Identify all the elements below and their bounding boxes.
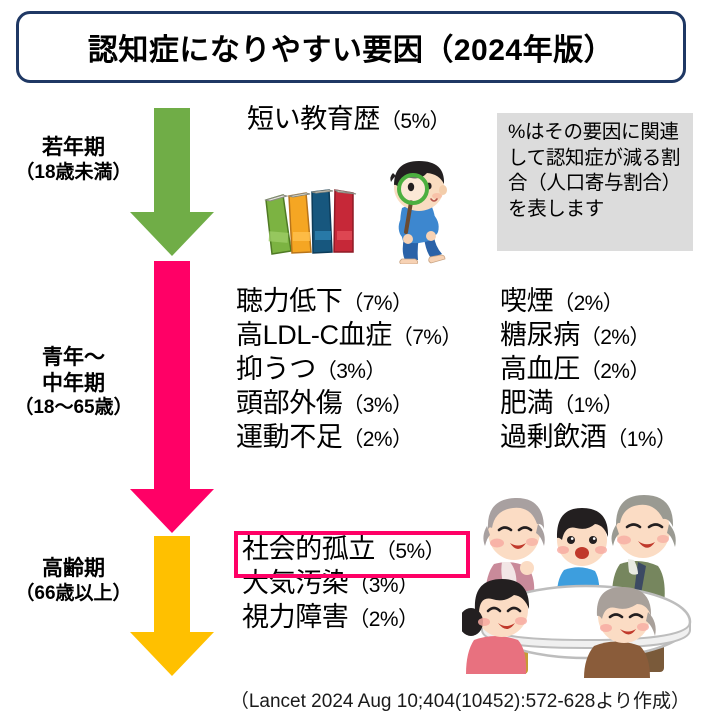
factor-name: 高LDL-C血症: [236, 320, 392, 350]
infographic-page: 認知症になりやすい要因（2024年版） 若年期 （18歳未満） 青年〜 中年期 …: [0, 0, 702, 721]
factor-percent: （5%）: [380, 110, 450, 133]
factor-percent: （2%）: [580, 360, 650, 383]
arrow-stem: [154, 108, 190, 212]
factor-name: 短い教育歴: [247, 104, 380, 134]
factor-item: 過剰飲酒（1%）: [500, 424, 676, 451]
arrow-head: [130, 632, 214, 676]
books-and-boy-illustration: [256, 156, 486, 264]
stage-label-young: 若年期 （18歳未満）: [6, 135, 141, 184]
factor-item: 糖尿病（2%）: [500, 322, 676, 349]
factor-percent: （1%）: [553, 394, 623, 417]
factor-name: 聴力低下: [236, 286, 342, 316]
factor-percent: （3%）: [342, 394, 412, 417]
factor-list-young: 短い教育歴（5%）: [247, 106, 450, 140]
stage-young-range: （18歳未満）: [6, 161, 141, 184]
factor-percent: （3%）: [316, 360, 386, 383]
factor-name: 過剰飲酒: [500, 422, 606, 452]
title-box: 認知症になりやすい要因（2024年版）: [16, 11, 686, 83]
arrow-head: [130, 212, 214, 256]
stage-middle-name-line2: 中年期: [6, 371, 141, 397]
legend-note: %はその要因に関連して認知症が減る割合（人口寄与割合）を表します: [497, 113, 693, 251]
factor-percent: （2%）: [342, 428, 412, 451]
factor-name: 高血圧: [500, 354, 580, 384]
factor-item: 視力障害（2%）: [242, 604, 445, 631]
factor-item: 抑うつ（3%）: [236, 356, 462, 383]
factor-name: 喫煙: [500, 286, 553, 316]
stage-old-range: （66歳以上）: [6, 582, 141, 605]
factor-item: 聴力低下（7%）: [236, 288, 462, 315]
factor-list-middle-left: 聴力低下（7%） 高LDL-C血症（7%） 抑うつ（3%） 頭部外傷（3%） 運…: [236, 288, 462, 458]
stage-label-old: 高齢期 （66歳以上）: [6, 556, 141, 605]
down-arrow-icon-old: [130, 536, 214, 676]
stage-old-name: 高齢期: [6, 556, 141, 582]
stage-label-middle: 青年〜 中年期 （18〜65歳）: [6, 345, 141, 419]
factor-name: 肥満: [500, 388, 553, 418]
factor-name: 頭部外傷: [236, 388, 342, 418]
factor-list-middle-right: 喫煙（2%） 糖尿病（2%） 高血圧（2%） 肥満（1%） 過剰飲酒（1%）: [500, 288, 676, 458]
factor-item: 高血圧（2%）: [500, 356, 676, 383]
factor-item: 喫煙（2%）: [500, 288, 676, 315]
factor-item: 高LDL-C血症（7%）: [236, 322, 462, 349]
factor-name: 抑うつ: [236, 354, 316, 384]
stage-young-name: 若年期: [6, 135, 141, 161]
factor-item: 運動不足（2%）: [236, 424, 462, 451]
arrow-head: [130, 489, 214, 533]
factor-item: 短い教育歴（5%）: [247, 106, 450, 133]
stage-middle-name-line1: 青年〜: [6, 345, 141, 371]
down-arrow-icon-young: [130, 108, 214, 256]
family-illustration: [462, 490, 700, 678]
factor-name: 運動不足: [236, 422, 342, 452]
factor-percent: （7%）: [342, 292, 412, 315]
stage-middle-range: （18〜65歳）: [6, 396, 141, 419]
factor-percent: （7%）: [392, 326, 462, 349]
factor-name: 糖尿病: [500, 320, 580, 350]
citation: （Lancet 2024 Aug 10;404(10452):572-628より…: [0, 686, 690, 713]
arrow-stem: [154, 261, 190, 489]
factor-name: 視力障害: [242, 602, 348, 632]
factor-item: 肥満（1%）: [500, 390, 676, 417]
highlight-box-social-isolation: [234, 531, 470, 578]
factor-percent: （2%）: [580, 326, 650, 349]
factor-percent: （1%）: [606, 428, 676, 451]
factor-percent: （2%）: [553, 292, 623, 315]
arrow-stem: [154, 536, 190, 632]
factor-percent: （2%）: [348, 608, 418, 631]
factor-item: 頭部外傷（3%）: [236, 390, 462, 417]
page-title: 認知症になりやすい要因（2024年版）: [88, 25, 614, 69]
down-arrow-icon-middle: [130, 261, 214, 533]
